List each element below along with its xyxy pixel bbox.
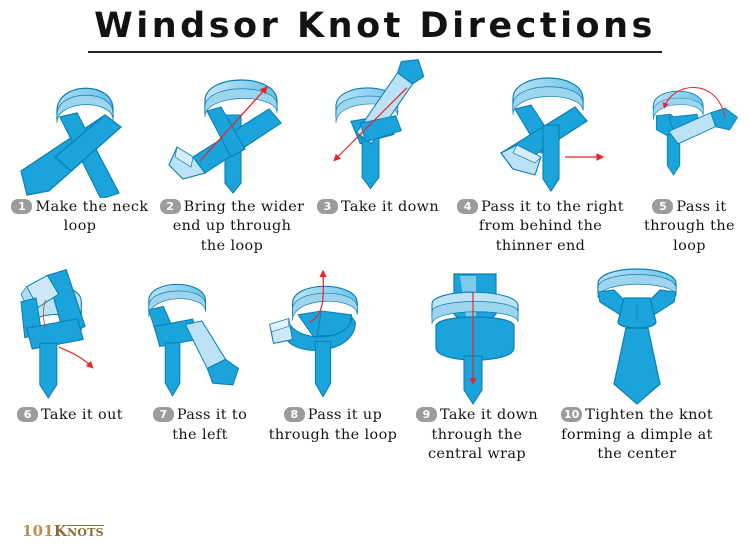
tie-finished-windsor-knot-icon: [562, 256, 712, 406]
step-10-text: Tighten the knot forming a dimple at the…: [561, 407, 713, 462]
step-4-illustration: [448, 53, 633, 198]
step-5-badge: 5: [652, 199, 673, 214]
step-2-badge: 2: [160, 199, 181, 214]
tie-pass-through-loop-icon: [633, 53, 746, 198]
watermark-prefix: 101: [22, 522, 54, 540]
step-8-illustration: [264, 256, 402, 406]
step-5-illustration: [633, 53, 746, 198]
steps-row-2: 6Take it out: [0, 256, 750, 464]
tie-wide-end-up-through-loop-icon: [157, 53, 307, 198]
watermark-suffix: NOTS: [67, 525, 104, 539]
step-7-illustration: [136, 256, 264, 406]
page-title: Windsor Knot Directions: [88, 8, 662, 53]
tie-crossed-neck-loop-icon: [5, 53, 155, 198]
step-3-illustration: [308, 53, 448, 198]
step-8-caption: 8Pass it up through the loop: [264, 406, 402, 445]
step-7-caption: 7Pass it to the left: [136, 406, 264, 445]
step-4-badge: 4: [457, 199, 478, 214]
step-4-text: Pass it to the right from behind the thi…: [479, 199, 624, 254]
step-1-caption: 1Make the neck loop: [4, 198, 156, 237]
watermark-101knots: 101KNOTS: [22, 522, 104, 540]
step-10-caption: 10Tighten the knot forming a dimple at t…: [552, 406, 722, 464]
step-7: 7Pass it to the left: [136, 256, 264, 464]
step-8: 8Pass it up through the loop: [264, 256, 402, 464]
step-8-badge: 8: [284, 407, 305, 422]
step-6-caption: 6Take it out: [15, 406, 125, 425]
step-2-caption: 2Bring the wider end up through the loop: [156, 198, 308, 256]
step-9-caption: 9Take it down through the central wrap: [402, 406, 552, 464]
step-9-text: Take it down through the central wrap: [428, 407, 538, 462]
step-5-caption: 5Pass it through the loop: [633, 198, 746, 256]
tie-pass-left-icon: [136, 256, 264, 406]
step-3: 3Take it down: [308, 53, 448, 256]
step-5: 5Pass it through the loop: [633, 53, 746, 256]
step-9: 9Take it down through the central wrap: [402, 256, 552, 464]
windsor-knot-infographic: { "header": { "title": "Windsor Knot Dir…: [0, 0, 750, 548]
steps-row-1: 1Make the neck loop: [0, 53, 750, 256]
tie-wide-end-over-top-icon: [308, 53, 448, 198]
step-7-text: Pass it to the left: [172, 407, 247, 442]
step-7-badge: 7: [153, 407, 174, 422]
step-3-caption: 3Take it down: [315, 198, 441, 217]
step-2: 2Bring the wider end up through the loop: [156, 53, 308, 256]
step-6-text: Take it out: [41, 407, 123, 423]
step-10-illustration: [552, 256, 722, 406]
step-10-badge: 10: [561, 407, 582, 422]
step-3-badge: 3: [317, 199, 338, 214]
step-6-badge: 6: [17, 407, 38, 422]
step-3-text: Take it down: [341, 199, 439, 215]
step-1-illustration: [4, 53, 156, 198]
step-4: 4Pass it to the right from behind the th…: [448, 53, 633, 256]
tie-take-it-out-icon: [4, 256, 136, 406]
tie-down-through-central-wrap-icon: [402, 256, 552, 406]
step-9-badge: 9: [416, 407, 437, 422]
step-2-text: Bring the wider end up through the loop: [173, 199, 305, 254]
watermark-k: K: [54, 522, 67, 540]
step-1: 1Make the neck loop: [4, 53, 156, 256]
tie-pass-up-through-loop-icon: [264, 256, 402, 406]
step-4-caption: 4Pass it to the right from behind the th…: [448, 198, 633, 256]
title-bar: Windsor Knot Directions: [0, 0, 750, 53]
step-1-text: Make the neck loop: [35, 199, 148, 234]
step-6: 6Take it out: [4, 256, 136, 464]
step-9-illustration: [402, 256, 552, 406]
step-2-illustration: [156, 53, 308, 198]
step-10: 10Tighten the knot forming a dimple at t…: [552, 256, 722, 464]
tie-pass-right-behind-icon: [461, 53, 621, 198]
step-1-badge: 1: [11, 199, 32, 214]
step-6-illustration: [4, 256, 136, 406]
